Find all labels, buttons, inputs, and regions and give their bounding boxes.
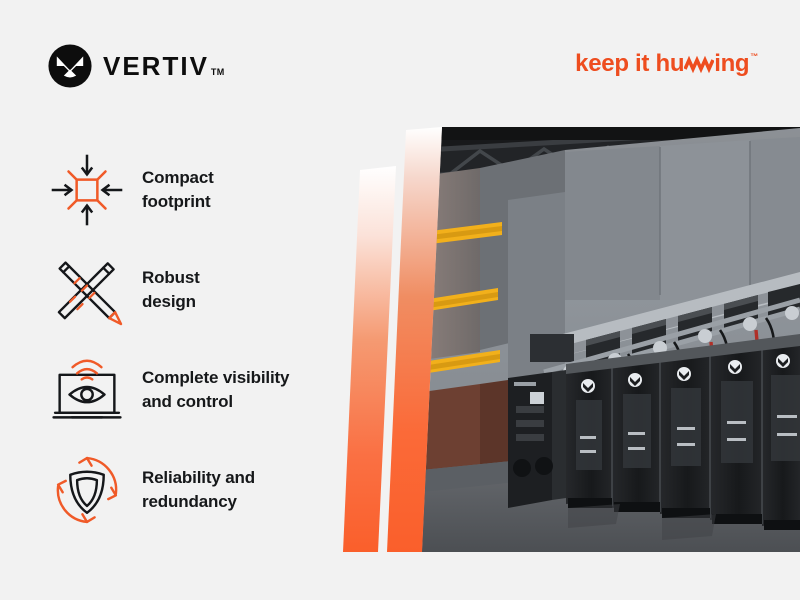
vertiv-logo-mark-icon xyxy=(48,44,92,88)
feature-item-complete-visibility: Complete visibility and control xyxy=(48,340,348,440)
datacenter-photo xyxy=(410,127,800,552)
accent-bar-left xyxy=(343,166,396,552)
feature-label-line1: Compact xyxy=(142,168,214,187)
feature-label: Compact footprint xyxy=(142,166,214,214)
vertiv-wordmark-text: VERTIV xyxy=(103,53,209,79)
vertiv-wordmark: VERTIV TM xyxy=(103,53,225,79)
complete-visibility-icon xyxy=(48,351,126,429)
compact-footprint-icon xyxy=(48,151,126,229)
feature-item-compact-footprint: Compact footprint xyxy=(48,140,348,240)
artwork-panel xyxy=(330,0,800,600)
feature-label-line1: Reliability and xyxy=(142,468,255,487)
feature-item-robust-design: Robust design xyxy=(48,240,348,340)
vertiv-trademark: TM xyxy=(211,68,225,79)
feature-label-line2: redundancy xyxy=(142,492,237,511)
vertiv-logo-lockup: VERTIV TM xyxy=(48,44,225,88)
feature-list: Compact footprint xyxy=(48,140,348,540)
feature-label-line1: Complete visibility xyxy=(142,368,289,387)
server-rack-row xyxy=(566,334,800,530)
feature-label-line2: and control xyxy=(142,392,233,411)
ups-cabinet xyxy=(508,370,566,508)
feature-label-line2: footprint xyxy=(142,192,211,211)
feature-label-line2: design xyxy=(142,292,196,311)
feature-label: Robust design xyxy=(142,266,200,314)
robust-design-icon xyxy=(48,251,126,329)
feature-label-line1: Robust xyxy=(142,268,200,287)
reliability-redundancy-icon xyxy=(48,451,126,529)
feature-label: Complete visibility and control xyxy=(142,366,289,414)
feature-label: Reliability and redundancy xyxy=(142,466,255,514)
slide-root: VERTIV TM keep it hu ing ™ xyxy=(0,0,800,600)
feature-item-reliability-redundancy: Reliability and redundancy xyxy=(48,440,348,540)
